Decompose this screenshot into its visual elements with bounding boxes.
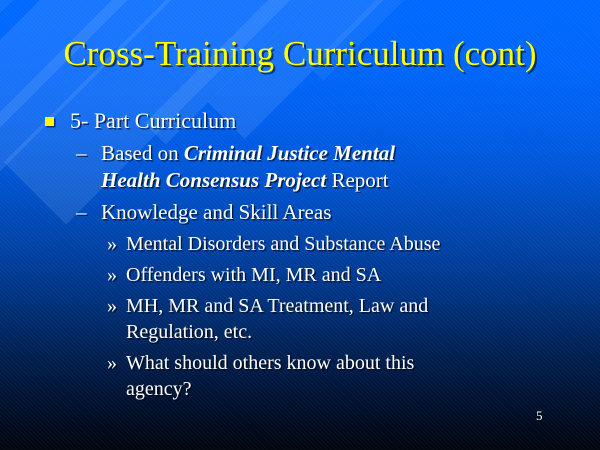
bullet-text: Knowledge and Skill Areas bbox=[101, 200, 331, 224]
bullet-level2: – Knowledge and Skill Areas bbox=[0, 199, 600, 226]
bullet-text: What should others know about this bbox=[126, 352, 414, 374]
bullet-level3: » Mental Disorders and Substance Abuse bbox=[0, 231, 600, 257]
slide-page-number: 5 bbox=[536, 408, 543, 424]
bullet-text: Mental Disorders and Substance Abuse bbox=[126, 233, 440, 255]
slide-title: Cross-Training Curriculum (cont) bbox=[0, 34, 600, 74]
presentation-slide: Cross-Training Curriculum (cont) 5- Part… bbox=[0, 0, 600, 450]
slide-body: 5- Part Curriculum – Based on Criminal J… bbox=[0, 106, 600, 402]
dash-bullet-icon: – bbox=[76, 199, 87, 226]
bullet-level2: – Based on Criminal Justice Mental bbox=[0, 140, 600, 167]
bullet-level3: » MH, MR and SA Treatment, Law and bbox=[0, 293, 600, 319]
bullet-text: MH, MR and SA Treatment, Law and bbox=[126, 295, 428, 317]
bullet-level3-continuation: Regulation, etc. bbox=[0, 319, 600, 345]
bullet-level3-continuation: agency? bbox=[0, 376, 600, 402]
square-bullet-icon bbox=[45, 117, 54, 126]
bullet-text-cont: Regulation, etc. bbox=[126, 321, 252, 343]
bullet-text: 5- Part Curriculum bbox=[70, 108, 236, 133]
bullet-text-emphasis: Criminal Justice Mental bbox=[184, 141, 395, 165]
bullet-level1: 5- Part Curriculum bbox=[0, 106, 600, 136]
bullet-level3: » Offenders with MI, MR and SA bbox=[0, 262, 600, 288]
dash-bullet-icon: – bbox=[76, 140, 87, 167]
bullet-level3: » What should others know about this bbox=[0, 350, 600, 376]
bullet-text-prefix: Based on bbox=[101, 141, 184, 165]
guillemet-bullet-icon: » bbox=[107, 231, 117, 257]
guillemet-bullet-icon: » bbox=[107, 350, 117, 376]
bullet-text: Offenders with MI, MR and SA bbox=[126, 264, 381, 286]
bullet-text-cont: agency? bbox=[126, 378, 192, 400]
bullet-level2-continuation: Health Consensus Project Report bbox=[0, 167, 600, 194]
guillemet-bullet-icon: » bbox=[107, 293, 117, 319]
bullet-text-emphasis-cont: Health Consensus Project bbox=[101, 168, 326, 192]
bullet-text-suffix: Report bbox=[326, 168, 388, 192]
guillemet-bullet-icon: » bbox=[107, 262, 117, 288]
